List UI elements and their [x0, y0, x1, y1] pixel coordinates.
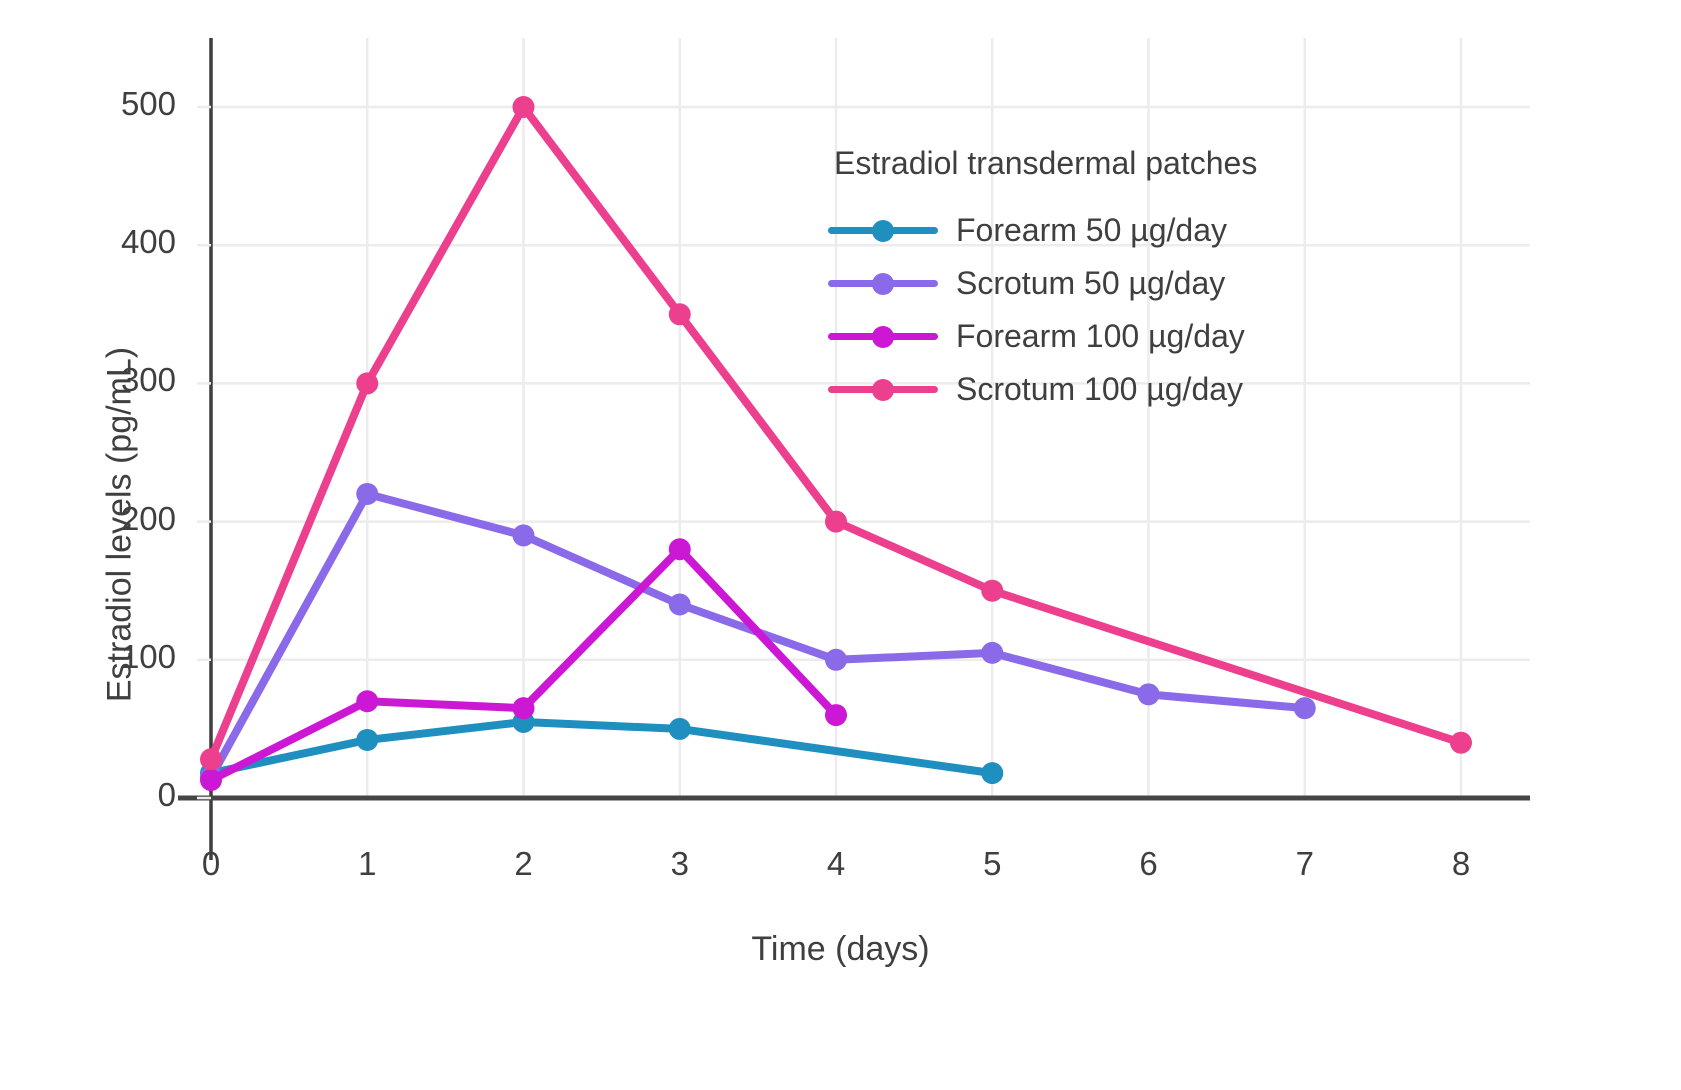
legend-label: Scrotum 100 µg/day [956, 371, 1243, 408]
legend-marker-icon [828, 218, 938, 244]
legend-label: Forearm 100 µg/day [956, 318, 1245, 355]
y-axis-title: Estradiol levels (pg/mL) [101, 175, 140, 875]
x-tick-label: 5 [952, 845, 1032, 883]
data-point [1294, 697, 1316, 719]
legend-title: Estradiol transdermal patches [828, 145, 1388, 182]
legend-entry-0[interactable]: Forearm 50 µg/day [828, 204, 1388, 257]
series-line [211, 722, 992, 773]
x-tick-label: 0 [171, 845, 251, 883]
data-point [513, 524, 535, 546]
legend-entries: Forearm 50 µg/dayScrotum 50 µg/dayForear… [828, 204, 1388, 416]
chart-legend: Estradiol transdermal patches Forearm 50… [828, 145, 1388, 416]
data-point [513, 697, 535, 719]
legend-dot [872, 379, 894, 401]
data-point [356, 690, 378, 712]
data-point [981, 580, 1003, 602]
x-axis-title: Time (days) [0, 930, 1681, 969]
legend-label: Forearm 50 µg/day [956, 212, 1227, 249]
x-tick-label: 8 [1421, 845, 1501, 883]
data-point [825, 704, 847, 726]
legend-marker-icon [828, 324, 938, 350]
y-tick-label: 500 [56, 85, 176, 123]
data-point [669, 718, 691, 740]
x-tick-label: 1 [327, 845, 407, 883]
data-point [513, 96, 535, 118]
legend-entry-2[interactable]: Forearm 100 µg/day [828, 310, 1388, 363]
legend-entry-3[interactable]: Scrotum 100 µg/day [828, 363, 1388, 416]
legend-dot [872, 273, 894, 295]
chart-canvas: 0100200300400500 012345678 Estradiol lev… [0, 0, 1681, 1090]
x-tick-label: 3 [640, 845, 720, 883]
data-point [200, 748, 222, 770]
legend-dot [872, 326, 894, 348]
data-point [669, 303, 691, 325]
legend-marker-icon [828, 377, 938, 403]
x-tick-label: 6 [1109, 845, 1189, 883]
x-tick-label: 7 [1265, 845, 1345, 883]
x-tick-label: 4 [796, 845, 876, 883]
data-point [981, 762, 1003, 784]
data-point [981, 642, 1003, 664]
data-point [356, 372, 378, 394]
data-point [1138, 683, 1160, 705]
legend-marker-icon [828, 271, 938, 297]
data-point [200, 769, 222, 791]
legend-dot [872, 220, 894, 242]
data-point [825, 511, 847, 533]
data-point [669, 594, 691, 616]
data-point [669, 538, 691, 560]
data-point [356, 729, 378, 751]
data-point [356, 483, 378, 505]
legend-entry-1[interactable]: Scrotum 50 µg/day [828, 257, 1388, 310]
data-point [1450, 732, 1472, 754]
x-tick-label: 2 [484, 845, 564, 883]
legend-label: Scrotum 50 µg/day [956, 265, 1225, 302]
data-point [825, 649, 847, 671]
